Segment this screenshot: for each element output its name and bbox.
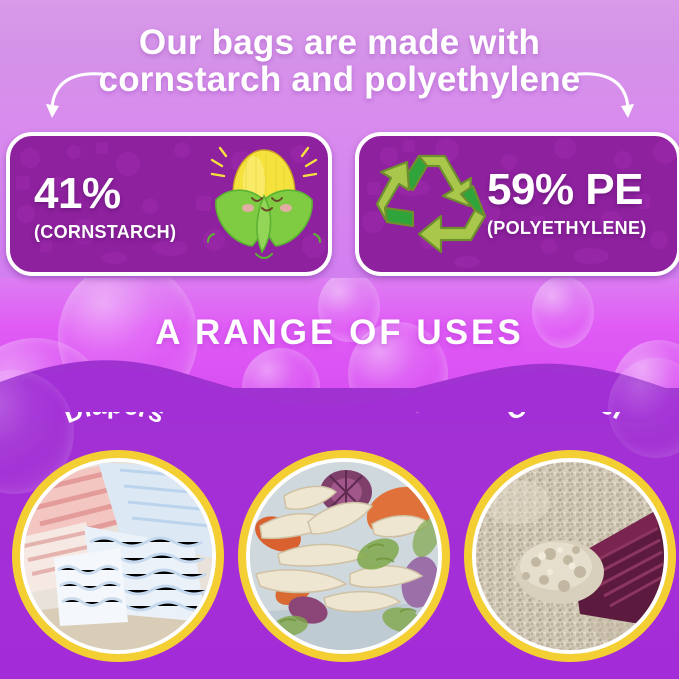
cornstarch-percent: 41% — [34, 172, 176, 216]
corn-mascot-icon — [206, 142, 322, 266]
curved-arrow-down-left-icon — [38, 68, 108, 126]
polyethylene-material: (POLYETHYLENE) — [487, 218, 647, 239]
use-label-diapers-text: Diapers — [59, 412, 169, 429]
svg-text:Diapers: Diapers — [59, 412, 169, 429]
polyethylene-percent: 59% PE — [487, 168, 647, 212]
cat-litter-photo — [472, 458, 668, 654]
polyethylene-stat: 59% PE (POLYETHYLENE) — [487, 168, 647, 239]
recycle-icon — [375, 150, 491, 260]
svg-text:Cat Litter: Cat Litter — [501, 412, 632, 427]
composition-panel-polyethylene: 59% PE (POLYETHYLENE) — [355, 132, 679, 276]
use-label-veggie-scraps-text: Veggie Scraps — [245, 412, 436, 419]
diapers-photo — [20, 458, 216, 654]
curved-arrow-down-right-icon — [572, 68, 642, 126]
use-label-cat-litter: Cat Litter — [466, 412, 666, 460]
infographic-poster: Our bags are made with cornstarch and po… — [0, 0, 679, 679]
use-label-cat-litter-text: Cat Litter — [501, 412, 632, 427]
svg-text:Veggie Scraps: Veggie Scraps — [245, 412, 436, 419]
veggie-scraps-photo — [246, 458, 442, 654]
cornstarch-material: (CORNSTARCH) — [34, 222, 176, 243]
composition-panel-cornstarch: 41% (CORNSTARCH) — [6, 132, 332, 276]
use-label-diapers: Diapers — [14, 412, 214, 460]
headline-line-1: Our bags are made with — [0, 24, 679, 61]
cornstarch-stat: 41% (CORNSTARCH) — [34, 172, 176, 243]
uses-section-title: A RANGE OF USES — [0, 313, 679, 353]
use-label-veggie-scraps: Veggie Scraps — [240, 412, 440, 460]
